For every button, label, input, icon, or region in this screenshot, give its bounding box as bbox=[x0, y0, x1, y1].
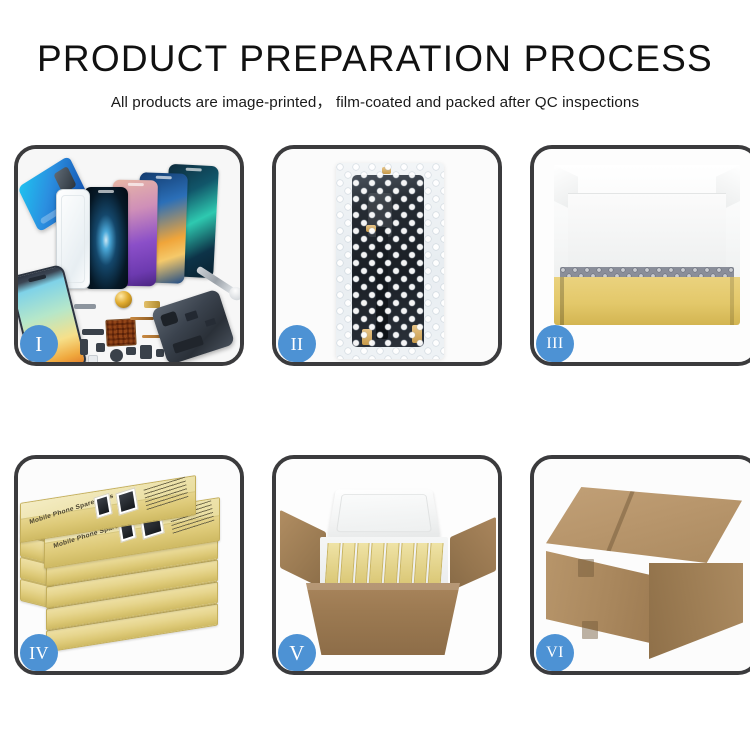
spare-part bbox=[80, 339, 88, 355]
step-badge-5: V bbox=[278, 634, 316, 672]
process-step-1: I bbox=[14, 145, 244, 366]
spare-part bbox=[88, 355, 98, 362]
process-step-6: VI bbox=[530, 455, 750, 675]
spare-part bbox=[82, 329, 104, 335]
step-badge-6: VI bbox=[536, 634, 574, 672]
spare-part bbox=[74, 304, 96, 309]
step-badge-3: III bbox=[536, 325, 574, 363]
box-product-image bbox=[93, 493, 112, 519]
carton-tab bbox=[582, 621, 598, 639]
notch bbox=[98, 190, 114, 193]
step-badge-4: IV bbox=[20, 634, 58, 672]
yellow-box bbox=[369, 543, 385, 589]
yellow-box bbox=[324, 543, 340, 589]
process-step-4: Mobile Phone Spare Parts Mobile Phone Sp… bbox=[14, 455, 244, 675]
carton-body bbox=[306, 583, 460, 655]
header: PRODUCT PREPARATION PROCESS All products… bbox=[0, 40, 750, 112]
bubble-wrap-bag bbox=[336, 163, 444, 359]
notch bbox=[156, 176, 172, 180]
process-steps-grid: I II bbox=[14, 145, 736, 675]
process-step-5: V bbox=[272, 455, 502, 675]
speaker-part bbox=[110, 349, 123, 362]
yellow-boxes-inside bbox=[324, 543, 443, 589]
yellow-box bbox=[413, 543, 429, 589]
spare-part bbox=[96, 343, 105, 352]
styrofoam-lid bbox=[328, 489, 441, 538]
notch bbox=[186, 168, 202, 172]
white-foam-liner bbox=[554, 165, 740, 283]
yellow-box bbox=[354, 543, 370, 589]
phone-screen-2 bbox=[84, 187, 128, 289]
step-badge-2: II bbox=[278, 325, 316, 363]
process-step-2: II bbox=[272, 145, 502, 366]
gold-component bbox=[115, 291, 132, 308]
carton-tab bbox=[578, 559, 594, 577]
box-spec-lines bbox=[144, 477, 189, 511]
yellow-box bbox=[398, 543, 414, 589]
kraft-box-body bbox=[554, 277, 740, 325]
spare-part bbox=[126, 347, 136, 355]
spare-part bbox=[140, 345, 152, 359]
notch bbox=[127, 183, 143, 186]
yellow-box bbox=[339, 543, 355, 589]
copper-chip bbox=[105, 318, 136, 347]
box-product-image bbox=[115, 487, 138, 515]
yellow-box bbox=[383, 543, 399, 589]
step-badge-1: I bbox=[20, 325, 58, 363]
page-subtitle: All products are image-printed， film-coa… bbox=[0, 90, 750, 112]
page-title: PRODUCT PREPARATION PROCESS bbox=[0, 40, 750, 79]
product-preparation-infographic: PRODUCT PREPARATION PROCESS All products… bbox=[0, 0, 750, 750]
process-step-3: III bbox=[530, 145, 750, 366]
bubble-texture bbox=[336, 163, 444, 359]
flex-cable bbox=[130, 317, 154, 320]
